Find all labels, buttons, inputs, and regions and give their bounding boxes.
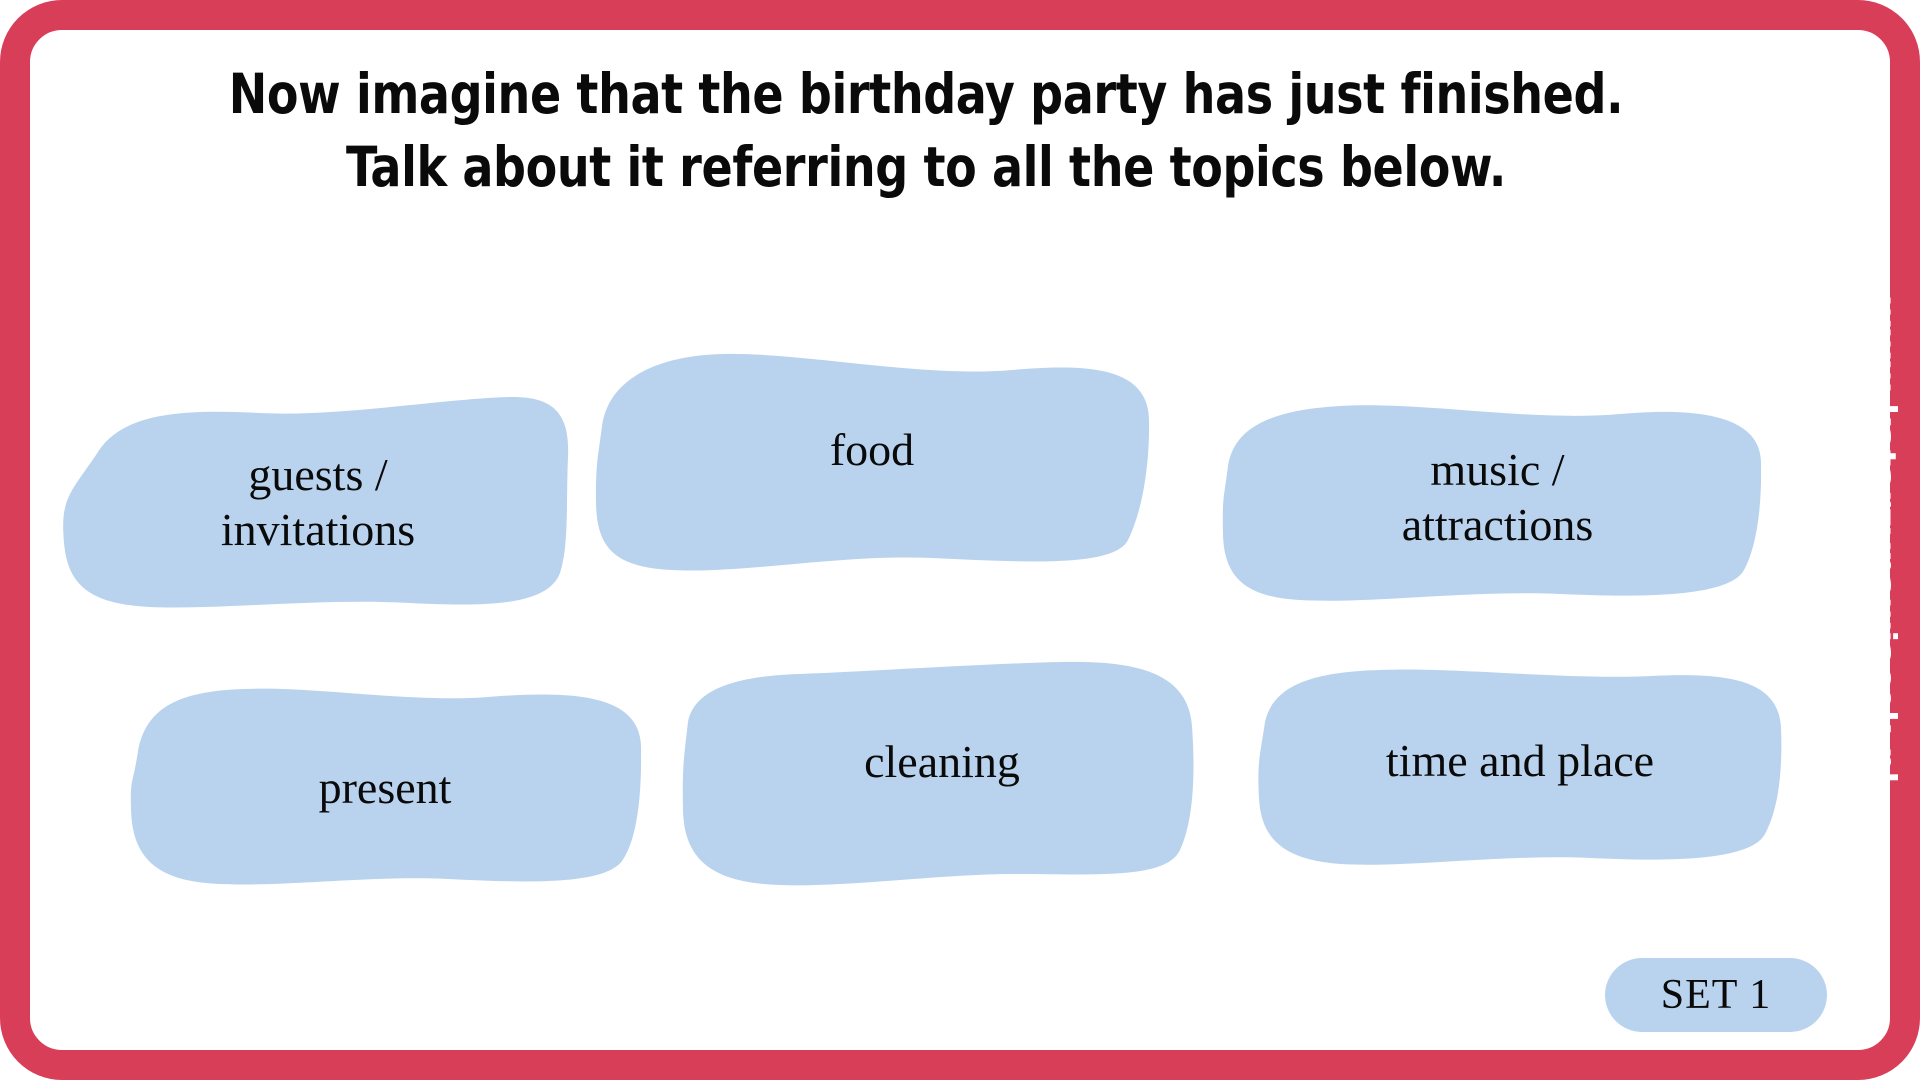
topic-blob-label: present xyxy=(128,655,648,885)
topic-blob-music[interactable]: music / attractions xyxy=(1220,390,1765,605)
topic-blob-label: food xyxy=(592,348,1152,578)
topic-blob-cleaning[interactable]: cleaning xyxy=(680,660,1200,890)
slide-canvas: Now imagine that the birthday party has … xyxy=(0,0,1920,1080)
set-badge-label: SET 1 xyxy=(1661,971,1771,1019)
topic-blob-guests[interactable]: guests / invitations xyxy=(40,395,570,610)
topic-blob-label: guests / invitations xyxy=(40,395,570,610)
topic-blob-label: music / attractions xyxy=(1220,390,1765,605)
topic-blob-time-and-place[interactable]: time and place xyxy=(1255,658,1785,868)
topic-blob-present[interactable]: present xyxy=(128,655,648,885)
topic-blob-group: guests / invitations food music / attrac… xyxy=(0,0,1920,1080)
topic-blob-label: time and place xyxy=(1255,658,1785,868)
topic-blob-label: cleaning xyxy=(680,660,1200,890)
set-badge: SET 1 xyxy=(1605,958,1827,1032)
topic-blob-food[interactable]: food xyxy=(592,348,1152,578)
watermark-url: www.katarzynawiacek.pl xyxy=(1863,260,1903,820)
